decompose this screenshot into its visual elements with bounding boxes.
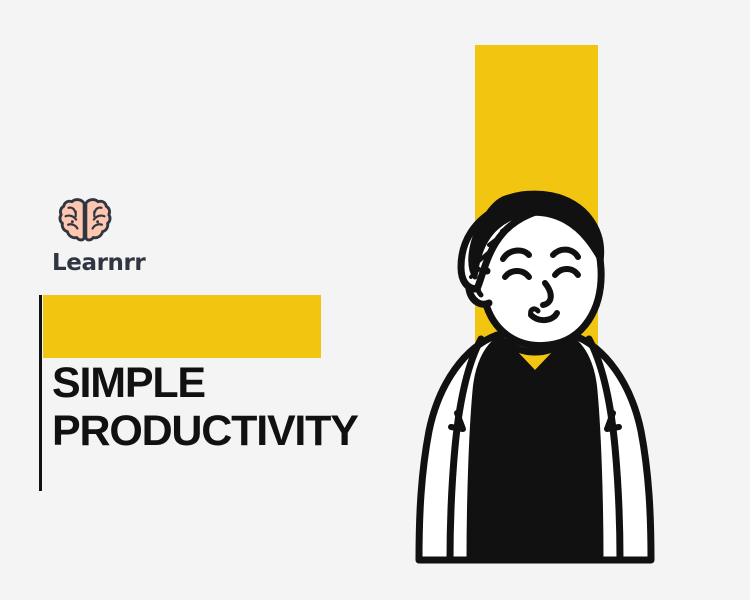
smiling-person-in-beanie-illustration bbox=[405, 185, 665, 570]
poster-canvas: Learnrr SIMPLE PRODUCTIVITY bbox=[0, 0, 750, 600]
page-title-line-1: SIMPLE bbox=[52, 361, 452, 407]
page-title: SIMPLE PRODUCTIVITY bbox=[52, 361, 452, 454]
yellow-highlight-block bbox=[43, 295, 321, 358]
brand-name: Learnrr bbox=[52, 252, 202, 275]
page-title-line-2: PRODUCTIVITY bbox=[52, 409, 452, 455]
brand-logo: Learnrr bbox=[52, 196, 202, 275]
black-vertical-rule bbox=[39, 295, 42, 491]
brain-icon bbox=[58, 196, 112, 246]
